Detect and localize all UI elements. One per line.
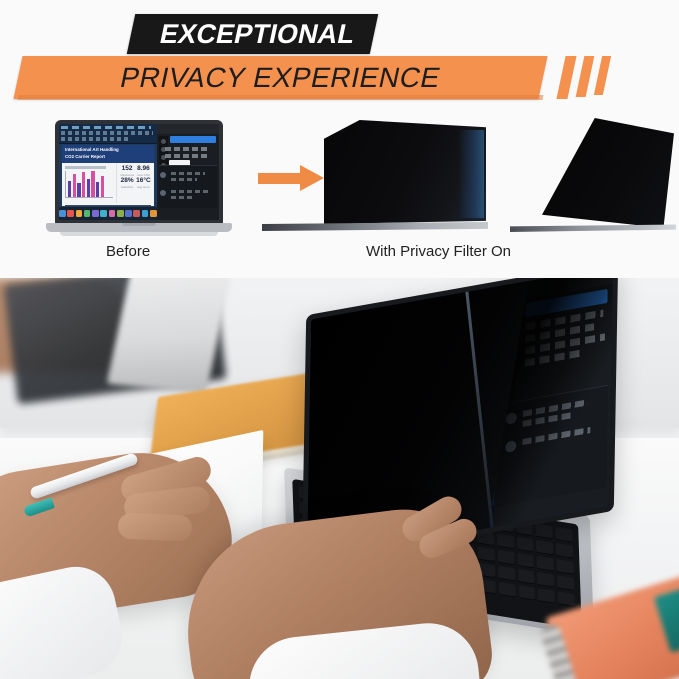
screen-edge-bleed	[458, 130, 484, 217]
chart-bar	[68, 181, 71, 197]
stat-cell: 152shipments	[119, 165, 135, 177]
decorative-slash-2	[576, 56, 595, 97]
chart-bar	[73, 174, 76, 197]
keyboard-key[interactable]	[497, 534, 514, 550]
list-item	[165, 154, 206, 158]
dock-icon[interactable]	[67, 210, 74, 217]
stat-value: 8.96	[135, 165, 151, 173]
dock-icon[interactable]	[84, 210, 91, 217]
message-line	[171, 196, 194, 199]
laptop-privacy-angled-2	[508, 118, 676, 246]
message-line	[171, 190, 207, 193]
document-body: International Art Handling CO2 Carrier R…	[62, 145, 154, 206]
message-line	[171, 172, 205, 175]
keyboard-key[interactable]	[517, 537, 534, 553]
keyboard-key[interactable]	[557, 575, 574, 591]
document-summary-row: 152shipments8.96tons CO228%reduction16°C…	[62, 163, 154, 203]
stat-caption: avg temp	[135, 185, 151, 189]
laptop-before-foot	[60, 232, 218, 236]
dock-icon[interactable]	[125, 210, 132, 217]
dock-icon[interactable]	[59, 210, 66, 217]
keyboard-key[interactable]	[558, 591, 575, 607]
keyboard-key[interactable]	[556, 527, 573, 543]
caption-before: Before	[106, 243, 150, 260]
laptop-base-2	[510, 224, 676, 232]
dock-icon[interactable]	[142, 210, 149, 217]
table-row	[65, 205, 151, 206]
bar-chart	[62, 163, 117, 203]
avatar	[160, 190, 166, 196]
keyboard-key[interactable]	[557, 559, 574, 575]
left-finger	[118, 513, 193, 542]
decorative-slash-3	[594, 56, 611, 95]
stat-cell: 8.96tons CO2	[135, 165, 151, 177]
chart-caption	[65, 166, 106, 169]
stat-value: 28%	[119, 177, 135, 185]
message-line	[171, 178, 197, 181]
laptop-before-base	[46, 223, 232, 232]
spiral-notebook-band	[654, 587, 679, 652]
stat-cell: 28%reduction	[119, 177, 135, 189]
stat-cell: 16°Cavg temp	[135, 177, 151, 189]
comparison-row: International Art Handling CO2 Carrier R…	[0, 112, 679, 278]
side-panel-header	[157, 124, 219, 134]
side-panel-app	[157, 124, 219, 220]
laptop-privacy-angled-1	[262, 118, 488, 246]
dock-icon[interactable]	[150, 210, 157, 217]
keyboard-key[interactable]	[556, 543, 573, 559]
keyboard-key[interactable]	[478, 546, 495, 562]
document-app-pane: International Art Handling CO2 Carrier R…	[59, 124, 157, 220]
caption-after: With Privacy Filter On	[366, 243, 511, 260]
stat-value: 16°C	[135, 177, 151, 185]
toolbar-icons-row-1	[61, 131, 153, 135]
lifestyle-photo: Report 152 28%	[0, 278, 679, 679]
keyboard-key[interactable]	[497, 550, 514, 566]
headline-secondary-text: PRIVACY EXPERIENCE	[14, 58, 547, 97]
header-banner: EXCEPTIONAL PRIVACY EXPERIENCE	[0, 0, 679, 112]
chart-bar	[91, 171, 94, 197]
dock-icon[interactable]	[133, 210, 140, 217]
message-feed	[159, 165, 217, 208]
menu-bar	[61, 126, 151, 129]
keyboard-key[interactable]	[498, 566, 515, 582]
stat-value: 152	[119, 165, 135, 173]
toolbar-icons-row-2	[61, 137, 129, 141]
privacy-screen-black-1	[324, 120, 486, 224]
keyboard-key[interactable]	[536, 524, 553, 540]
privacy-screen-black-2	[542, 118, 674, 228]
keyboard-key[interactable]	[517, 553, 534, 569]
side-panel-accent-bar	[170, 136, 216, 143]
keyboard-key[interactable]	[498, 582, 515, 598]
keyboard-key[interactable]	[536, 540, 553, 556]
stat-caption: reduction	[119, 185, 135, 189]
list-item	[165, 147, 210, 151]
keyboard-key[interactable]	[518, 585, 535, 601]
chart-bar	[96, 182, 99, 197]
dock-icon[interactable]	[76, 210, 83, 217]
keyboard-key[interactable]	[538, 588, 555, 604]
decorative-slash-1	[556, 56, 576, 99]
document-title-line2: CO2 Carrier Report	[65, 154, 151, 161]
chart-bar	[77, 183, 80, 197]
avatar	[160, 172, 166, 178]
dock-icon[interactable]	[109, 210, 116, 217]
chart-bar	[101, 176, 104, 197]
keyboard-key[interactable]	[537, 556, 554, 572]
document-title-block: International Art Handling CO2 Carrier R…	[62, 145, 154, 163]
chart-bar	[82, 172, 85, 197]
headline-primary-text: EXCEPTIONAL	[132, 16, 383, 52]
os-dock	[59, 207, 157, 220]
laptop-before-screen: International Art Handling CO2 Carrier R…	[59, 124, 219, 220]
chart-bars	[65, 171, 113, 198]
app-toolbar	[59, 124, 157, 144]
dock-icon[interactable]	[92, 210, 99, 217]
data-table	[62, 203, 154, 206]
dock-icon[interactable]	[117, 210, 124, 217]
rail-icon-1	[161, 139, 166, 144]
keyboard-key[interactable]	[537, 572, 554, 588]
laptop-notch	[122, 120, 156, 124]
stat-grid: 152shipments8.96tons CO228%reduction16°C…	[117, 163, 154, 203]
laptop-base-1	[262, 222, 488, 231]
laptop-before: International Art Handling CO2 Carrier R…	[46, 120, 232, 242]
laptop-before-lid: International Art Handling CO2 Carrier R…	[55, 120, 223, 224]
product-marketing-image: EXCEPTIONAL PRIVACY EXPERIENCE	[0, 0, 679, 679]
chart-bar	[87, 179, 90, 197]
keyboard-key[interactable]	[518, 569, 535, 585]
dock-icon[interactable]	[100, 210, 107, 217]
